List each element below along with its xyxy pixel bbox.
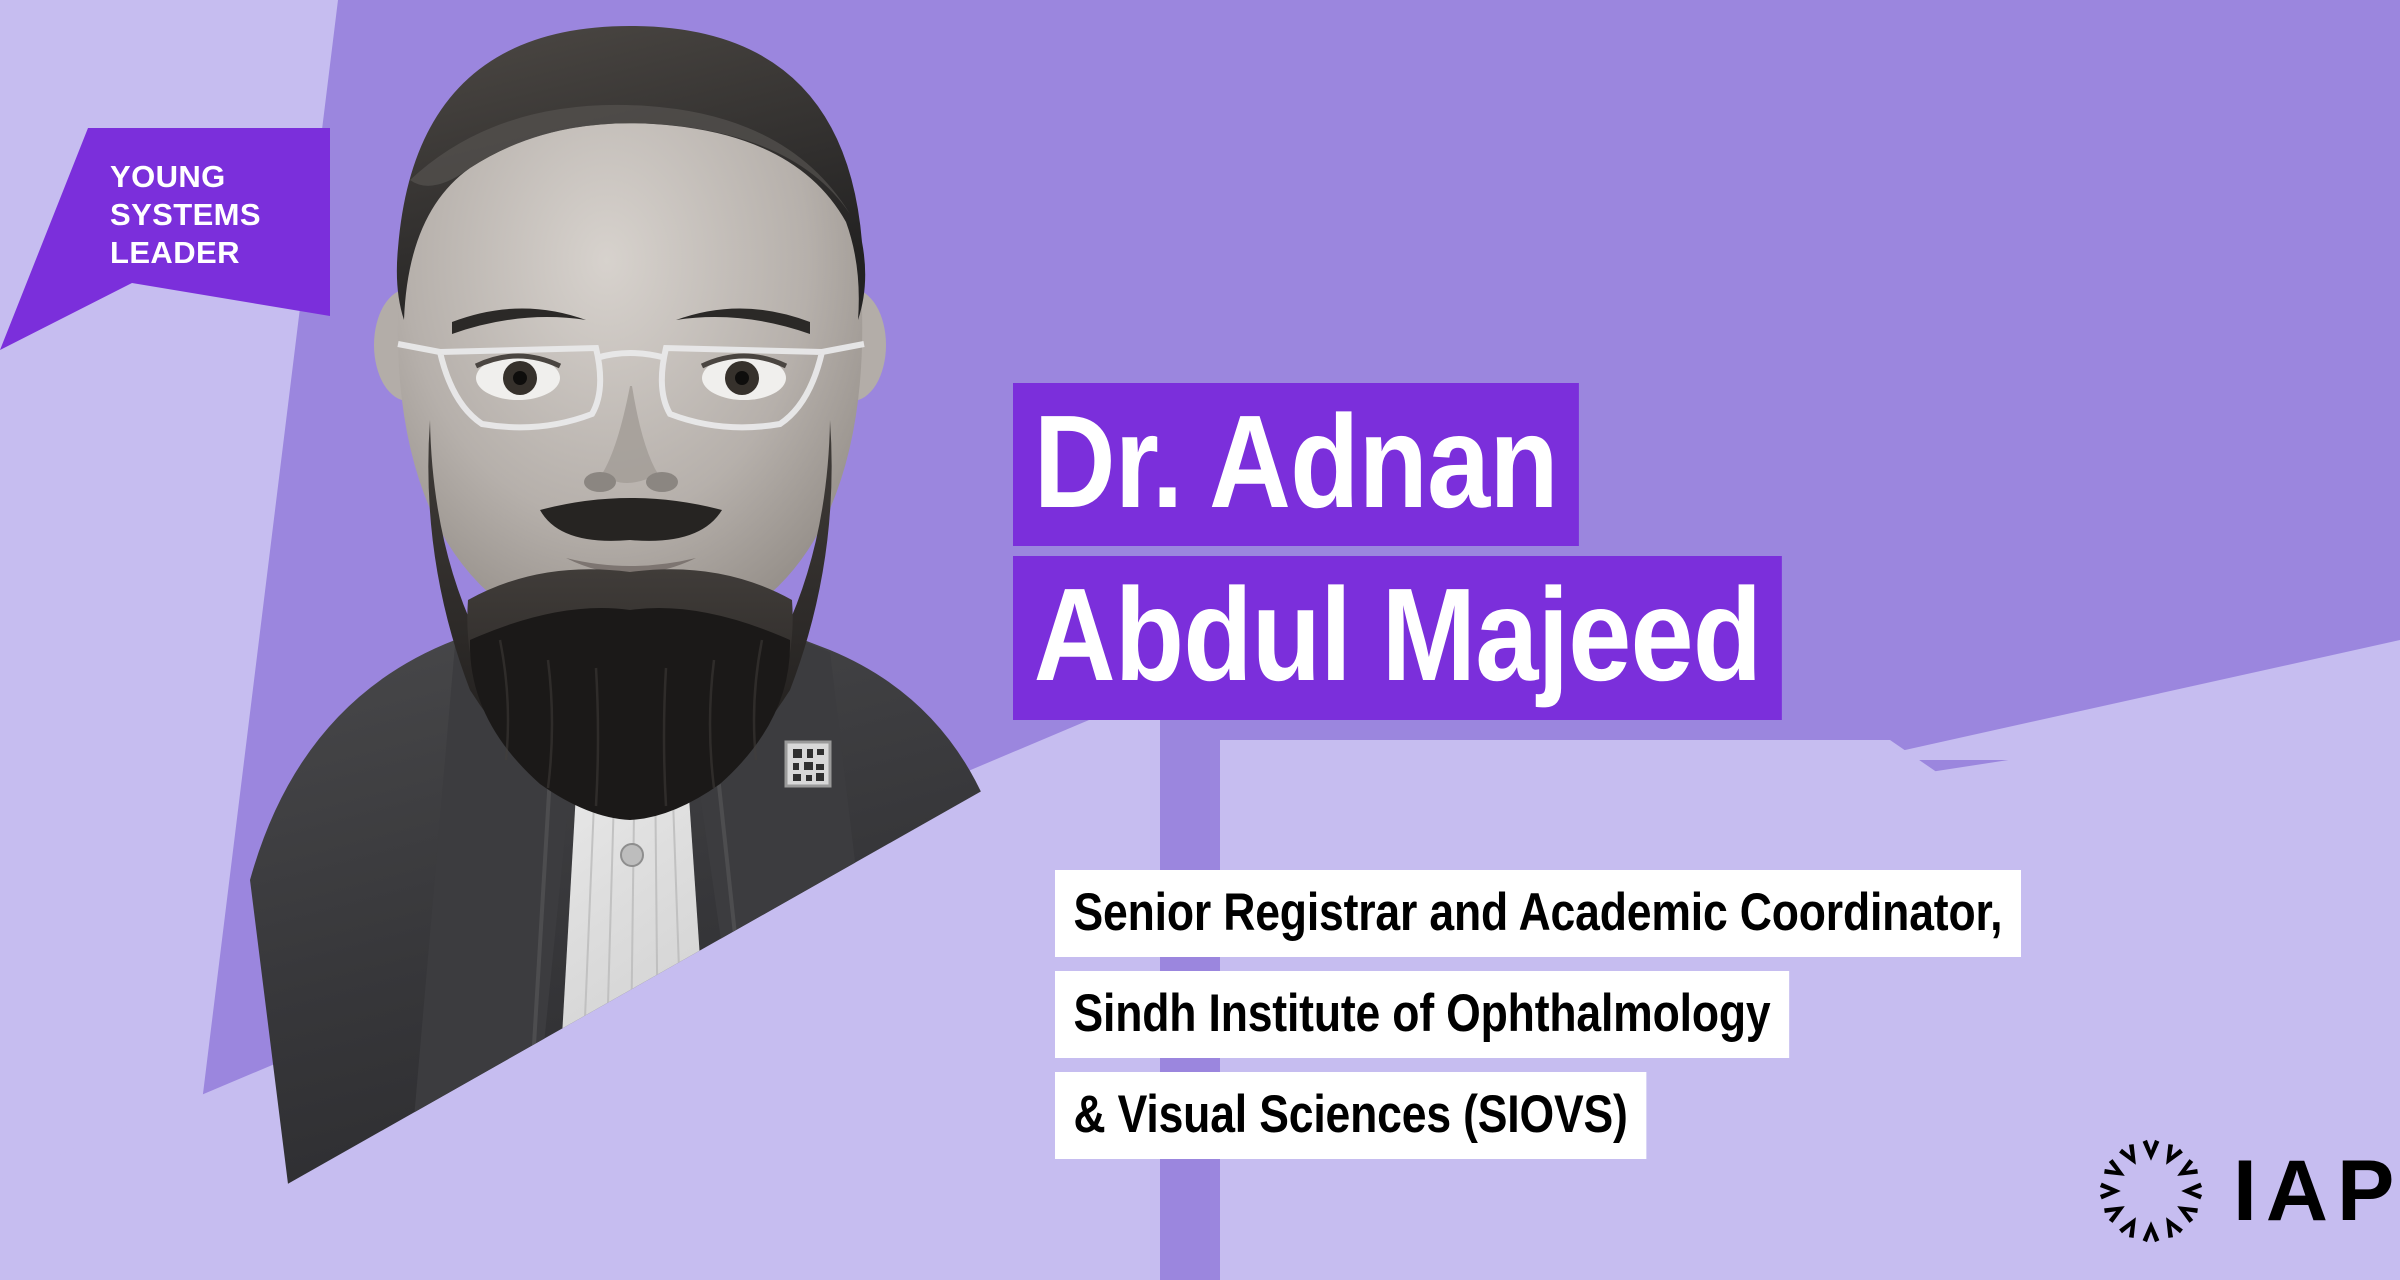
lapel-pin-icon — [786, 742, 830, 786]
young-systems-leader-badge: YOUNG SYSTEMS LEADER — [0, 128, 330, 350]
affiliation-line-1: Senior Registrar and Academic Coordinato… — [1055, 870, 2021, 957]
badge-line-2: SYSTEMS — [110, 196, 310, 234]
iapb-logo: IAPB — [2095, 1135, 2400, 1247]
speaker-name: Dr. Adnan Abdul Majeed — [1013, 383, 2400, 720]
speaker-name-line-2: Abdul Majeed — [1013, 556, 1782, 719]
affiliation-line-3: & Visual Sciences (SIOVS) — [1055, 1072, 1646, 1159]
iapb-wordmark: IAPB — [2233, 1148, 2400, 1234]
speaker-name-line-1: Dr. Adnan — [1013, 383, 1578, 546]
speaker-affiliation: Senior Registrar and Academic Coordinato… — [1055, 870, 2400, 1173]
speaker-announcement-card: Black and white portrait of a bearded ma… — [0, 0, 2400, 1280]
badge-line-1: YOUNG — [110, 158, 310, 196]
badge-line-3: LEADER — [110, 234, 310, 272]
badge-text: YOUNG SYSTEMS LEADER — [110, 158, 310, 272]
affiliation-line-2: Sindh Institute of Ophthalmology — [1055, 971, 1789, 1058]
iapb-sunburst-eye-icon — [2095, 1135, 2207, 1247]
